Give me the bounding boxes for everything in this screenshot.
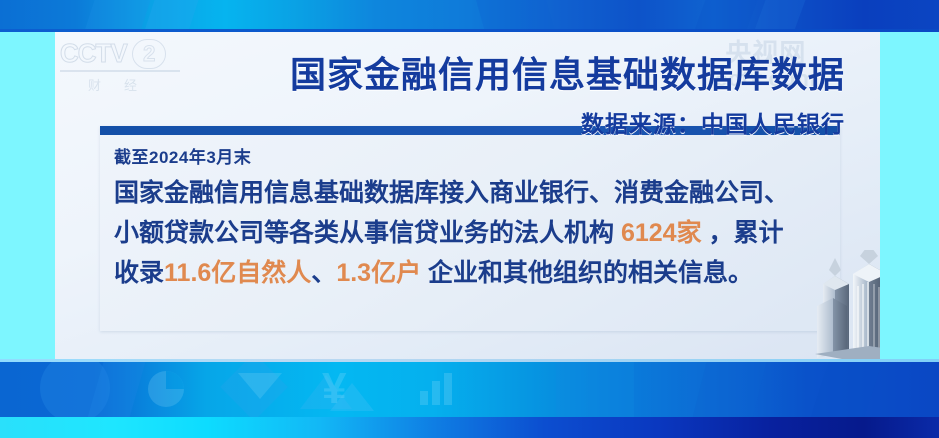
statistic-highlight: 11.6亿自然人 [164,259,311,287]
band-shape [693,359,767,417]
bar-chart-icon [420,373,460,405]
band-shape [142,0,202,29]
band-shape [474,0,557,29]
header-block: 国家金融信用信息基础数据库数据 数据来源：中国人民银行 [55,32,880,139]
band-shape [556,359,634,417]
bottom-band-lower-strip [0,417,939,438]
panel-body-text: 国家金融信用信息基础数据库接入商业银行、消费金融公司、小额贷款公司等各类从事信贷… [114,173,830,293]
broadcast-graphic-screen: CCTV 2 财 经 央视网 cctv.com 国家金融信用信息基础数据库数据 … [0,0,939,438]
bottom-decorative-band: ¥ [0,359,939,438]
band-shape [808,359,886,425]
content-stage: CCTV 2 财 经 央视网 cctv.com 国家金融信用信息基础数据库数据 … [55,32,880,359]
top-decorative-band [0,0,939,29]
body-text-segment: 收录 [114,259,164,287]
chevron-down-icon [238,373,282,399]
yuan-currency-icon: ¥ [322,367,346,411]
statistic-highlight: 6124家 [621,219,702,247]
body-line-1: 国家金融信用信息基础数据库接入商业银行、消费金融公司、 [114,173,830,213]
band-shape [752,0,807,29]
body-text-segment: ，累计 [702,219,784,247]
band-shape [692,0,761,29]
body-text-segment: 国家金融信用信息基础数据库接入商业银行、消费金融公司、 [114,179,789,207]
skyscraper-cluster-icon [813,250,880,359]
left-cyan-edge [0,32,55,359]
bottom-band-top-line [0,359,939,362]
body-line-3: 收录11.6亿自然人、1.3亿户 企业和其他组织的相关信息。 [114,253,830,293]
body-text-segment: 、 [311,259,336,287]
panel-inner: 截至2024年3月末 国家金融信用信息基础数据库接入商业银行、消费金融公司、小额… [114,143,830,293]
content-panel: 截至2024年3月末 国家金融信用信息基础数据库接入商业银行、消费金融公司、小额… [100,126,840,331]
bar-2 [432,381,440,405]
body-line-2: 小额贷款公司等各类从事信贷业务的法人机构 6124家 ，累计 [114,213,830,253]
as-of-date: 截至2024年3月末 [114,143,830,168]
bar-3 [444,373,452,405]
page-title: 国家金融信用信息基础数据库数据 [55,46,845,98]
right-cyan-edge [880,32,939,359]
pie-chart-icon [148,371,184,407]
band-shape [84,0,153,29]
body-text-segment: 企业和其他组织的相关信息。 [421,259,753,287]
body-text-segment: 小额贷款公司等各类从事信贷业务的法人机构 [114,219,621,247]
bar-1 [420,391,428,405]
statistic-highlight: 1.3亿户 [336,259,421,287]
data-source-label: 数据来源：中国人民银行 [55,105,845,139]
